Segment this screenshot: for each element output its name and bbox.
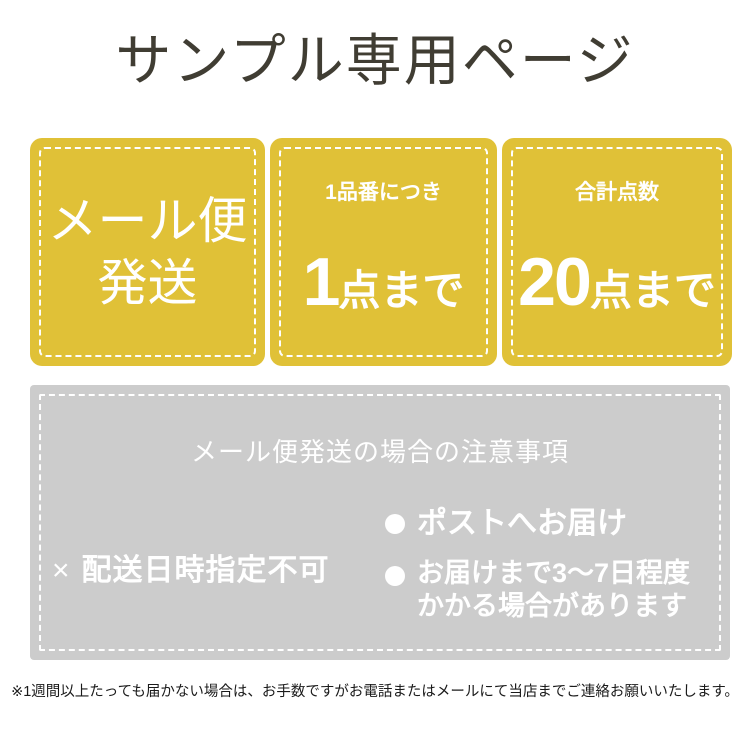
notice-bullet-list: ポストへお届け お届けまで3〜7日程度 かかる場合があります (385, 505, 725, 637)
card-total-limit: 合計点数 20 点まで (502, 138, 732, 366)
card-shipping-method-line1: メール便 (48, 190, 248, 252)
sample-shipping-banner: サンプル専用ページ メール便 発送 1品番につき 1 点まで 合計点数 (0, 0, 750, 750)
notice-bullet-label-line2: かかる場合があります (417, 590, 690, 623)
notice-bullet-item: ポストへお届け (385, 505, 725, 543)
card-shipping-method-label: メール便 発送 (48, 190, 248, 314)
notice-bullet-label: ポストへお届け (417, 505, 627, 543)
notice-bullet-item: お届けまで3〜7日程度 かかる場合があります (385, 557, 725, 623)
notice-restriction-label: 配送日時指定不可 (82, 553, 330, 589)
card-shipping-method: メール便 発送 (30, 138, 265, 366)
notice-restriction-item: × 配送日時指定不可 (52, 553, 330, 589)
card-per-item-limit-number: 1 (303, 248, 339, 316)
bullet-dot-icon (385, 566, 405, 586)
card-total-limit-number: 20 (518, 248, 590, 316)
footer-note: ※1週間以上たっても届かない場合は、お手数ですがお電話またはメールにて当店までご… (0, 682, 750, 702)
card-per-item-limit: 1品番につき 1 点まで (270, 138, 497, 366)
page-title: サンプル専用ページ (0, 26, 750, 96)
card-per-item-limit-unit: 点まで (338, 270, 464, 312)
bullet-dot-icon (385, 514, 405, 534)
shipping-summary-cards: メール便 発送 1品番につき 1 点まで 合計点数 20 点まで (30, 138, 730, 366)
card-shipping-method-line2: 発送 (48, 252, 248, 314)
notice-body: × 配送日時指定不可 ポストへお届け お届けまで3〜7日程度 かかる場合がありま… (30, 505, 730, 645)
card-per-item-limit-value: 1 点まで (303, 248, 465, 316)
card-total-limit-value: 20 点まで (518, 248, 716, 316)
card-total-limit-unit: 点まで (590, 270, 716, 312)
card-per-item-limit-caption: 1品番につき (325, 180, 442, 206)
card-total-limit-caption: 合計点数 (575, 180, 659, 206)
notice-bullet-label-line1: お届けまで3〜7日程度 (417, 557, 690, 590)
card-total-limit-content: 合計点数 20 点まで (502, 138, 732, 366)
cross-icon: × (52, 556, 70, 586)
notice-panel: メール便発送の場合の注意事項 × 配送日時指定不可 ポストへお届け お届けまで3… (30, 385, 730, 660)
notice-heading: メール便発送の場合の注意事項 (30, 435, 730, 469)
card-per-item-limit-content: 1品番につき 1 点まで (270, 138, 497, 366)
notice-bullet-label: お届けまで3〜7日程度 かかる場合があります (417, 557, 690, 623)
